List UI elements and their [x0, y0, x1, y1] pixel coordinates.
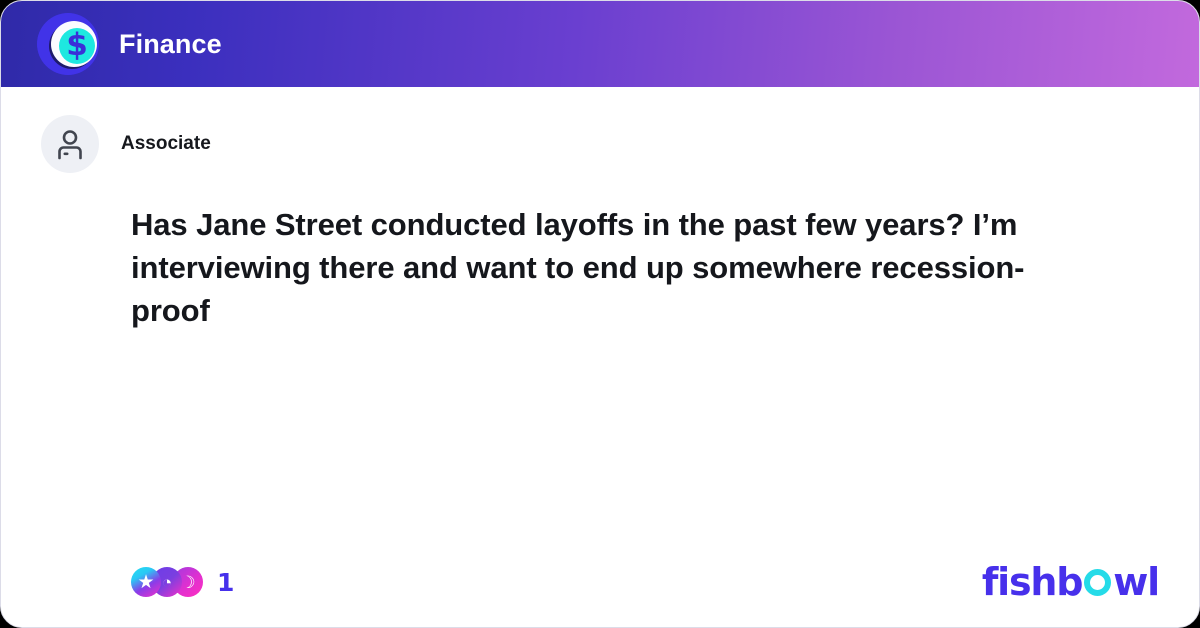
fishbowl-wordmark-part2: wl [1113, 560, 1159, 604]
avatar [41, 115, 99, 173]
reactions-group[interactable]: ★ ◔ ☽ 1 [131, 566, 234, 598]
author-name: Associate [121, 133, 211, 155]
card-footer: ★ ◔ ☽ 1 fishb wl [1, 559, 1199, 605]
finance-dollar-circle-icon: $ [37, 13, 99, 75]
card-header: $ Finance [1, 1, 1199, 87]
fishbowl-wordmark: fishb wl [982, 560, 1159, 604]
fishbowl-o-icon [1084, 569, 1111, 596]
post-question-text: Has Jane Street conducted layoffs in the… [131, 203, 1081, 332]
star-reaction-icon[interactable]: ★ [131, 567, 161, 597]
card-body: Associate Has Jane Street conducted layo… [1, 87, 1199, 628]
page-title: Finance [119, 29, 222, 60]
post-card: $ Finance Associate Has Jane Street cond… [0, 0, 1200, 628]
person-avatar-icon [54, 128, 86, 160]
reaction-count: 1 [217, 568, 234, 597]
author-row: Associate [41, 115, 1159, 173]
reaction-stack[interactable]: ★ ◔ ☽ [131, 566, 203, 598]
fishbowl-wordmark-part1: fishb [982, 560, 1082, 604]
